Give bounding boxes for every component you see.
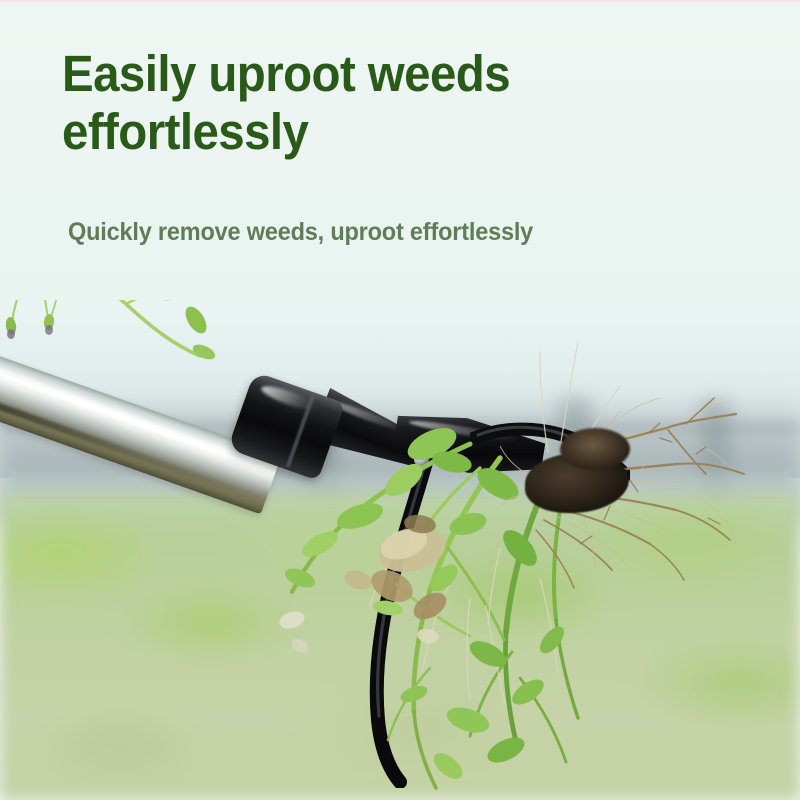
soil-clump-secondary — [560, 428, 630, 470]
product-photo — [0, 248, 800, 800]
page-title: Easily uproot weeds effortlessly — [62, 45, 657, 160]
header-band: Easily uproot weeds effortlessly Quickly… — [0, 0, 800, 300]
product-banner: Easily uproot weeds effortlessly Quickly… — [0, 0, 800, 800]
top-hairline — [0, 0, 800, 2]
page-subtitle: Quickly remove weeds, uproot effortlessl… — [68, 218, 533, 247]
